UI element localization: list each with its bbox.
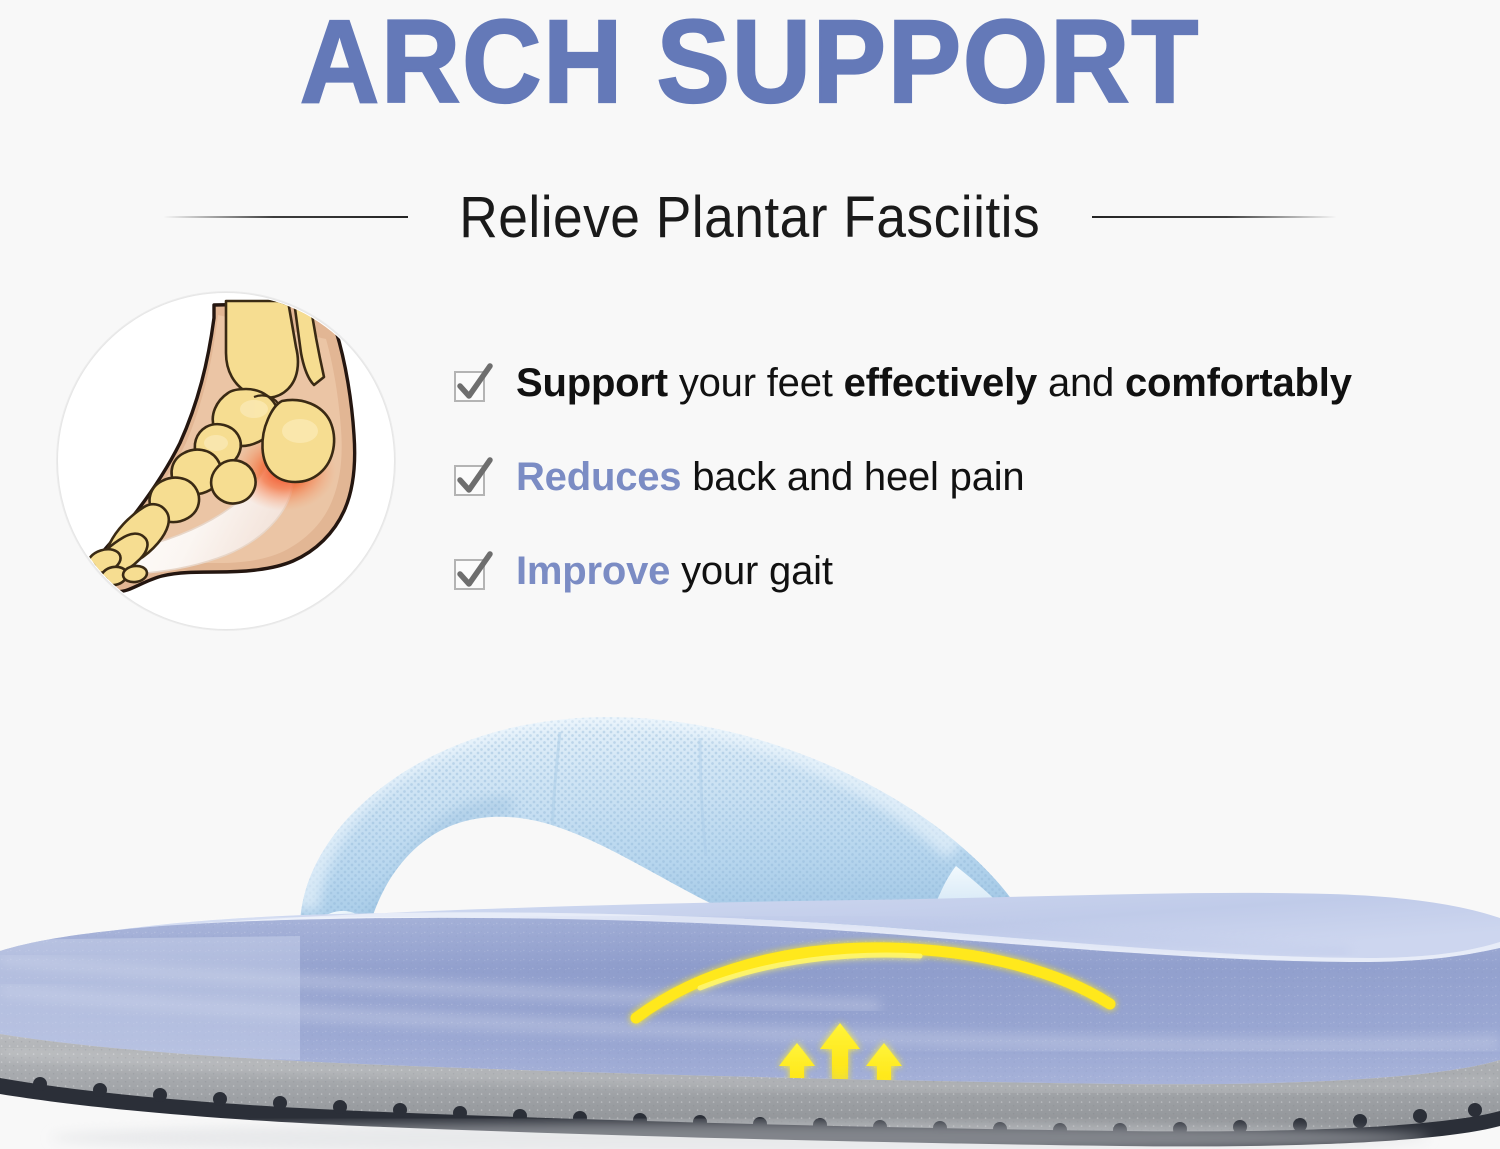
list-item: Improve your gait: [452, 546, 1462, 604]
segment-regular: your gait: [670, 549, 833, 593]
list-item-label: Reduces back and heel pain: [516, 452, 1024, 502]
page-subtitle: Relieve Plantar Fasciitis: [460, 184, 1041, 251]
segment-bold: comfortably: [1125, 361, 1352, 405]
checkbox-checked-icon: [452, 364, 494, 406]
segment-bold-blue: Improve: [516, 549, 670, 593]
segment-regular: back and heel pain: [681, 455, 1024, 499]
segment-bold: effectively: [844, 361, 1037, 405]
list-item: Support your feet effectively and comfor…: [452, 358, 1462, 416]
divider-line-right: [1092, 216, 1337, 218]
foot-anatomy-illustration: [58, 293, 394, 629]
foot-anatomy-circle: [57, 292, 395, 630]
divider-line-left: [163, 216, 408, 218]
checkbox-checked-icon: [452, 552, 494, 594]
checkbox-checked-icon: [452, 458, 494, 500]
list-item: Reduces back and heel pain: [452, 452, 1462, 510]
list-item-label: Improve your gait: [516, 546, 833, 596]
subtitle-row: Relieve Plantar Fasciitis: [0, 182, 1500, 252]
product-photo-flip-flop: [0, 660, 1500, 1149]
segment-bold-blue: Reduces: [516, 455, 681, 499]
list-item-label: Support your feet effectively and comfor…: [516, 358, 1352, 408]
product-feature-image: ARCH SUPPORT Relieve Plantar Fasciitis: [0, 0, 1500, 1149]
segment-regular: your feet: [668, 361, 844, 405]
page-title: ARCH SUPPORT: [53, 2, 1448, 122]
feature-list: Support your feet effectively and comfor…: [452, 358, 1462, 640]
segment-regular: and: [1037, 361, 1125, 405]
segment-bold: Support: [516, 361, 668, 405]
